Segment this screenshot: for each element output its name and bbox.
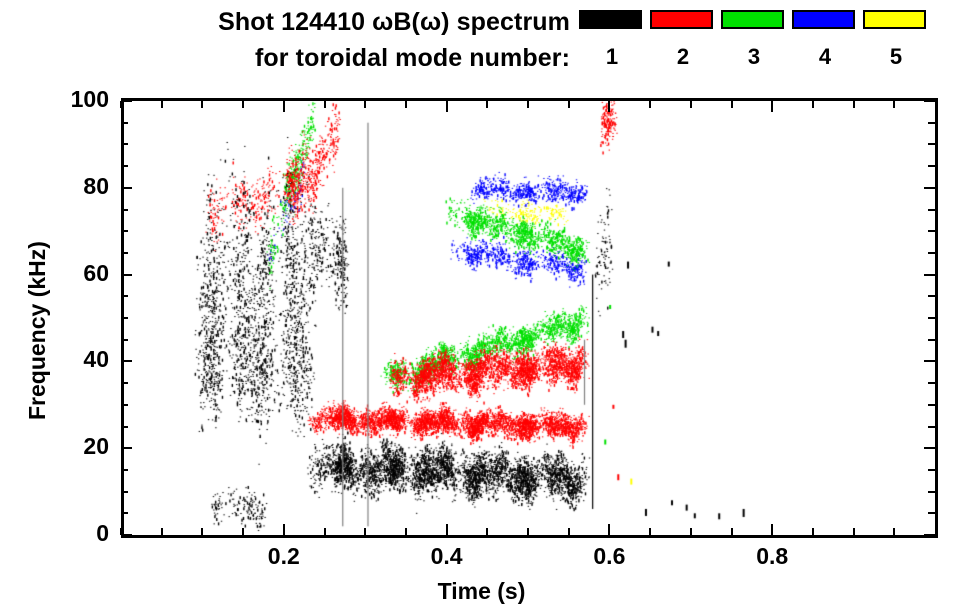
legend-label-4: 4 xyxy=(792,46,858,68)
figure-title: Shot 124410 ωB(ω) spectrum for toroidal … xyxy=(0,4,570,76)
y-tick-85 xyxy=(121,165,128,167)
x-tick-0.75 xyxy=(731,528,733,535)
x-tick-0.45 xyxy=(486,528,488,535)
y-tick-65 xyxy=(121,252,128,254)
y-tick-right-100 xyxy=(924,100,935,102)
y-tick-40 xyxy=(121,360,132,362)
x-tick-0.65 xyxy=(649,528,651,535)
legend-swatch-1 xyxy=(579,10,642,29)
y-tick-55 xyxy=(121,295,128,297)
x-tick-0.15 xyxy=(242,528,244,535)
y-axis-title: Frequency (kHz) xyxy=(24,241,51,420)
x-tick-top-0.35 xyxy=(405,101,407,108)
x-tick-0.60 xyxy=(608,524,610,535)
legend-item-1[interactable]: 1 xyxy=(579,10,645,68)
y-tick-70 xyxy=(121,230,128,232)
x-tick-top-0.60 xyxy=(608,101,610,112)
y-tick-right-20 xyxy=(924,447,935,449)
y-tick-label-0: 0 xyxy=(49,520,109,547)
legend-label-2: 2 xyxy=(650,46,716,68)
y-tick-right-70 xyxy=(928,230,935,232)
x-tick-top-0.25 xyxy=(324,101,326,108)
y-tick-90 xyxy=(121,143,128,145)
x-tick-0.25 xyxy=(324,528,326,535)
x-tick-top-0.95 xyxy=(893,101,895,108)
legend-swatch-2 xyxy=(650,10,713,29)
y-tick-75 xyxy=(121,209,128,211)
y-tick-30 xyxy=(121,404,128,406)
y-tick-right-80 xyxy=(924,187,935,189)
spectrogram-figure: Shot 124410 ωB(ω) spectrum for toroidal … xyxy=(0,0,963,615)
y-tick-20 xyxy=(121,447,132,449)
y-tick-right-90 xyxy=(928,143,935,145)
legend-label-1: 1 xyxy=(579,46,645,68)
y-tick-right-0 xyxy=(924,534,935,536)
x-tick-label-0.6: 0.6 xyxy=(569,543,649,570)
legend-item-4[interactable]: 4 xyxy=(792,10,858,68)
y-tick-50 xyxy=(121,317,128,319)
x-tick-0.40 xyxy=(446,524,448,535)
x-tick-0.10 xyxy=(201,528,203,535)
x-tick-top-0.50 xyxy=(527,101,529,108)
y-tick-45 xyxy=(121,339,128,341)
plot-area[interactable] xyxy=(121,101,938,538)
y-tick-right-75 xyxy=(928,209,935,211)
x-tick-top-0.05 xyxy=(161,101,163,108)
y-tick-right-40 xyxy=(924,360,935,362)
y-tick-right-15 xyxy=(928,469,935,471)
x-tick-0.55 xyxy=(568,528,570,535)
y-tick-right-95 xyxy=(928,122,935,124)
y-tick-label-20: 20 xyxy=(49,433,109,460)
x-tick-top-0.15 xyxy=(242,101,244,108)
x-tick-top-0.55 xyxy=(568,101,570,108)
x-tick-top-0.30 xyxy=(364,101,366,108)
y-tick-right-30 xyxy=(928,404,935,406)
x-tick-top-0.40 xyxy=(446,101,448,112)
y-tick-right-35 xyxy=(928,382,935,384)
y-tick-100 xyxy=(121,100,132,102)
legend-item-3[interactable]: 3 xyxy=(721,10,787,68)
y-tick-60 xyxy=(121,274,132,276)
y-tick-right-25 xyxy=(928,426,935,428)
legend-swatch-4 xyxy=(792,10,855,29)
y-tick-right-65 xyxy=(928,252,935,254)
y-tick-80 xyxy=(121,187,132,189)
legend: 1 2 3 4 5 xyxy=(575,10,963,90)
y-tick-10 xyxy=(121,491,128,493)
axis-right xyxy=(935,98,938,535)
y-tick-5 xyxy=(121,512,128,514)
x-tick-0.85 xyxy=(812,528,814,535)
x-tick-top-0.10 xyxy=(201,101,203,108)
legend-item-2[interactable]: 2 xyxy=(650,10,716,68)
y-tick-right-45 xyxy=(928,339,935,341)
y-tick-right-50 xyxy=(928,317,935,319)
x-tick-top-0.20 xyxy=(283,101,285,112)
y-tick-right-60 xyxy=(924,274,935,276)
x-tick-label-0.4: 0.4 xyxy=(407,543,487,570)
y-tick-label-60: 60 xyxy=(49,260,109,287)
legend-swatch-5 xyxy=(863,10,926,29)
legend-label-3: 3 xyxy=(721,46,787,68)
x-tick-0.70 xyxy=(690,528,692,535)
spectrogram-points xyxy=(127,101,935,532)
x-tick-top-0.45 xyxy=(486,101,488,108)
x-tick-top-0.80 xyxy=(771,101,773,112)
x-tick-label-0.2: 0.2 xyxy=(244,543,324,570)
x-axis-title: Time (s) xyxy=(0,578,963,605)
legend-label-5: 5 xyxy=(863,46,929,68)
x-tick-top-0.85 xyxy=(812,101,814,108)
y-tick-right-10 xyxy=(928,491,935,493)
x-tick-0.80 xyxy=(771,524,773,535)
y-tick-label-80: 80 xyxy=(49,173,109,200)
legend-item-5[interactable]: 5 xyxy=(863,10,929,68)
x-tick-label-0.8: 0.8 xyxy=(732,543,812,570)
x-tick-0.50 xyxy=(527,528,529,535)
x-tick-top-0.90 xyxy=(853,101,855,108)
legend-swatch-3 xyxy=(721,10,784,29)
y-tick-0 xyxy=(121,534,132,536)
x-tick-0.95 xyxy=(893,528,895,535)
x-tick-0.20 xyxy=(283,524,285,535)
y-tick-right-55 xyxy=(928,295,935,297)
y-tick-35 xyxy=(121,382,128,384)
title-line-2: for toroidal mode number: xyxy=(0,40,570,76)
x-tick-top-0.00 xyxy=(120,101,122,108)
x-tick-top-0.65 xyxy=(649,101,651,108)
y-tick-label-100: 100 xyxy=(49,86,109,113)
y-tick-right-5 xyxy=(928,512,935,514)
y-tick-25 xyxy=(121,426,128,428)
y-tick-right-85 xyxy=(928,165,935,167)
y-tick-label-40: 40 xyxy=(49,346,109,373)
x-tick-0.05 xyxy=(161,528,163,535)
y-tick-95 xyxy=(121,122,128,124)
x-tick-0.90 xyxy=(853,528,855,535)
x-tick-top-0.70 xyxy=(690,101,692,108)
x-tick-0.30 xyxy=(364,528,366,535)
x-tick-top-0.75 xyxy=(731,101,733,108)
y-tick-15 xyxy=(121,469,128,471)
title-line-1: Shot 124410 ωB(ω) spectrum xyxy=(0,4,570,40)
x-tick-0.35 xyxy=(405,528,407,535)
